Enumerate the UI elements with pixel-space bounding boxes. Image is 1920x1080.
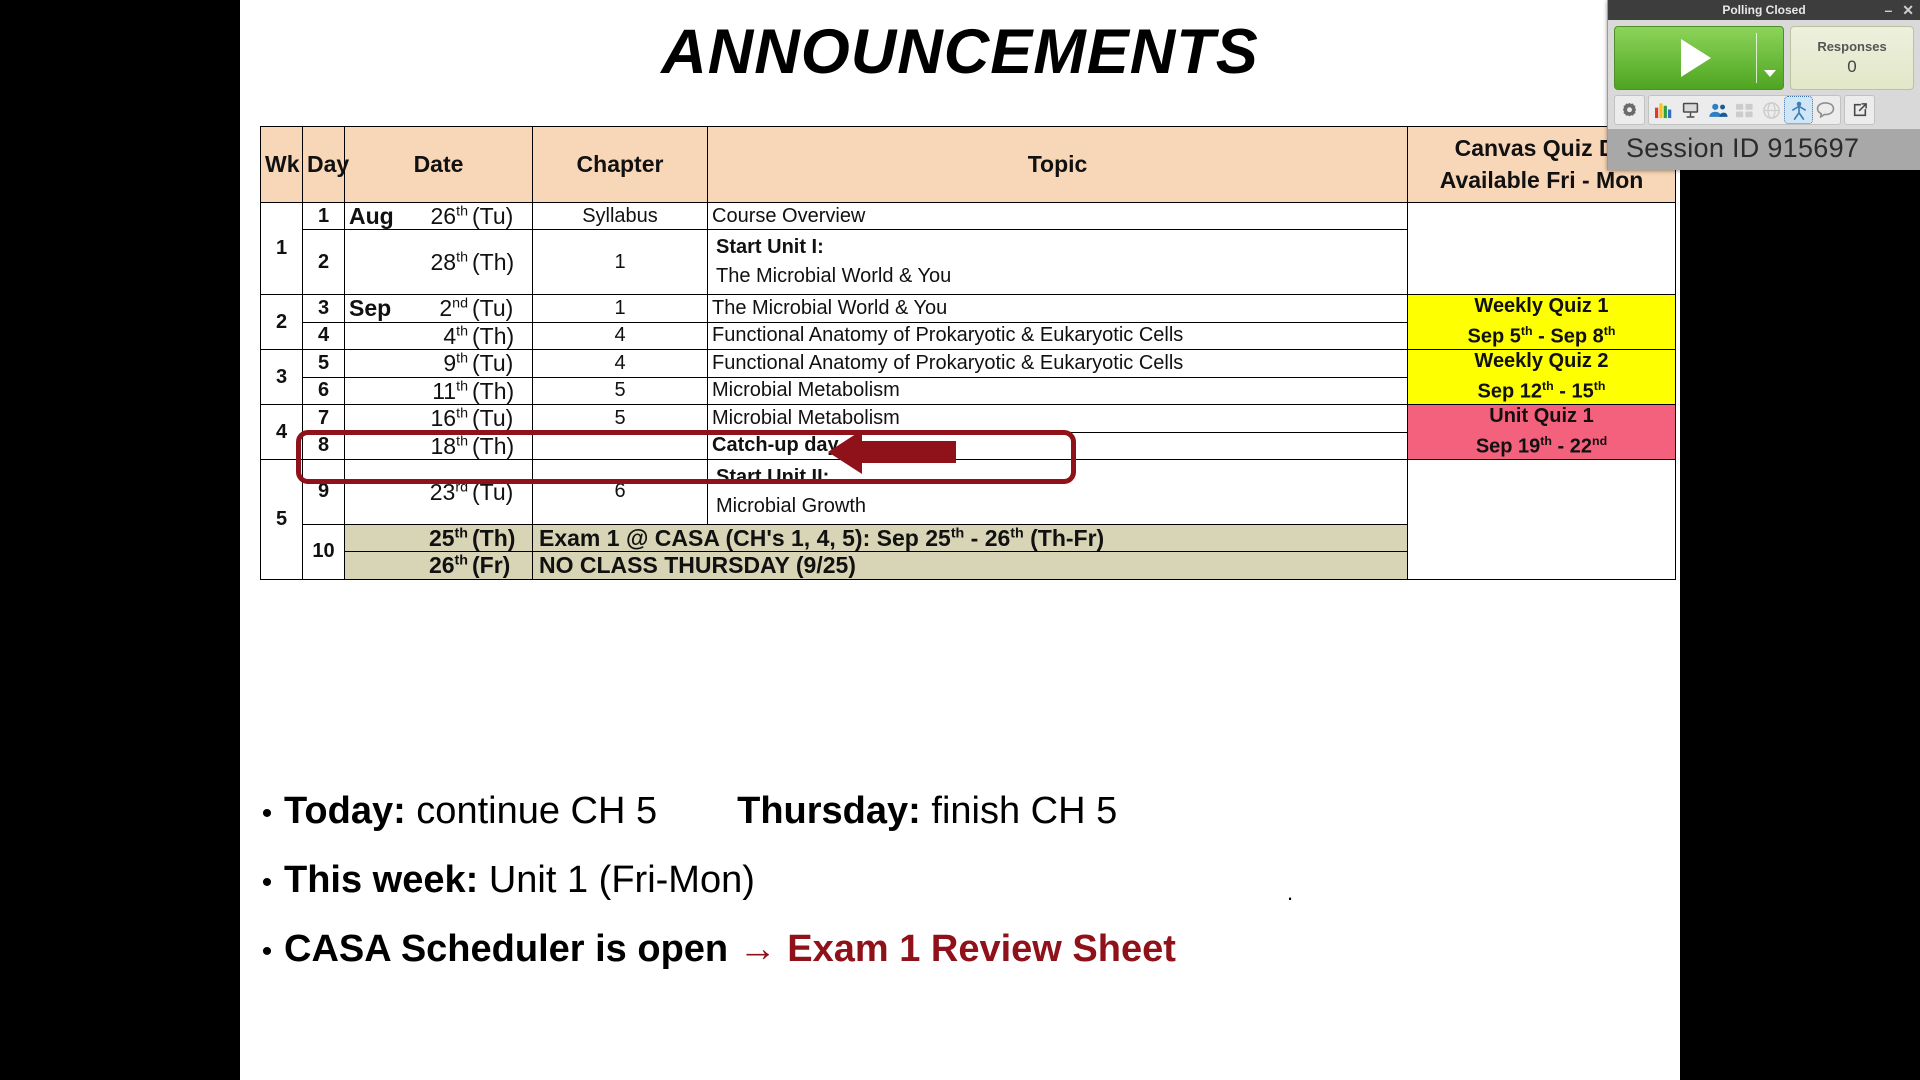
date-number: 26th — [407, 552, 472, 578]
chapter-cell: 5 — [533, 377, 708, 404]
header-date: Date — [345, 127, 533, 203]
table-row: 3 5 9th (Tu) 4 Functional Anatomy of Pro… — [261, 350, 1676, 377]
close-icon[interactable]: ✕ — [1902, 3, 1914, 17]
minimize-icon[interactable]: – — [1884, 3, 1892, 17]
gear-button[interactable] — [1614, 95, 1645, 125]
topic-line-1: Start Unit II: — [716, 466, 1399, 489]
chapter-cell: 6 — [533, 459, 708, 524]
bar-chart-icon[interactable] — [1650, 97, 1677, 123]
date-weekday: (Th) — [472, 249, 528, 275]
date-weekday: (Th) — [472, 433, 528, 459]
table-row: 1 1 Aug 26th (Tu) Syllabus Course Overvi… — [261, 202, 1676, 229]
quiz-cell-empty — [1408, 202, 1676, 294]
date-number: 28th — [407, 249, 472, 275]
list-item: • CASA Scheduler is open → Exam 1 Review… — [250, 928, 1670, 971]
polling-tool-group — [1648, 95, 1841, 125]
chapter-cell: 1 — [533, 295, 708, 322]
quiz-cell-weekly-2: Weekly Quiz 2 Sep 12th - 15th — [1408, 350, 1676, 405]
topic-line-1: Start Unit I: — [716, 236, 1399, 259]
topic-cell: The Microbial World & You — [708, 295, 1408, 322]
header-topic: Topic — [708, 127, 1408, 203]
date-cell: 26th (Fr) — [345, 552, 533, 579]
globe-icon — [1758, 97, 1785, 123]
quiz-title: Weekly Quiz 1 — [1412, 295, 1671, 318]
topic-cell: Functional Anatomy of Prokaryotic & Euka… — [708, 322, 1408, 349]
bullet-text: CASA Scheduler is open → Exam 1 Review S… — [284, 928, 1176, 971]
polling-body: Responses 0 — [1608, 20, 1920, 129]
date-weekday: (Tu) — [472, 203, 528, 229]
day-number: 3 — [303, 295, 345, 322]
popout-button[interactable] — [1844, 95, 1875, 125]
responses-count: 0 — [1847, 57, 1856, 77]
day-number: 7 — [303, 405, 345, 432]
quiz-cell-weekly-1: Weekly Quiz 1 Sep 5th - Sep 8th — [1408, 295, 1676, 350]
topic-cell: Start Unit II: Microbial Growth — [708, 459, 1408, 524]
polling-titlebar: Polling Closed – ✕ — [1608, 0, 1920, 20]
presentation-slide: ANNOUNCEMENTS Wk Day Date Chapter Topic — [240, 0, 1680, 1080]
person-icon[interactable] — [1785, 97, 1812, 123]
table-row: 5 9 23rd (Tu) 6 Start Unit II: — [261, 459, 1676, 524]
date-cell: 28th (Th) — [345, 230, 533, 295]
date-number: 9th — [407, 350, 472, 376]
date-weekday: (Tu) — [472, 350, 528, 376]
date-weekday: (Th) — [472, 525, 528, 551]
date-cell: 16th (Tu) — [345, 405, 533, 432]
topic-cell: Start Unit I: The Microbial World & You — [708, 230, 1408, 295]
header-wk: Wk — [261, 127, 303, 203]
list-item: • This week: Unit 1 (Fri-Mon) — [250, 859, 1670, 902]
date-month: Aug — [349, 203, 407, 229]
table-row: 2 3 Sep 2nd (Tu) 1 The Microbial World &… — [261, 295, 1676, 322]
stray-period: . — [1287, 880, 1293, 906]
date-number: 11th — [407, 378, 472, 404]
header-canvas-quiz-line2: Available Fri - Mon — [1412, 167, 1671, 193]
polling-controls-row: Responses 0 — [1614, 26, 1914, 90]
quiz-cell-empty — [1408, 459, 1676, 579]
quiz-title: Weekly Quiz 2 — [1412, 350, 1671, 373]
header-day: Day — [303, 127, 345, 203]
quiz-title: Unit Quiz 1 — [1412, 405, 1671, 428]
polling-window-title: Polling Closed — [1722, 3, 1805, 17]
day-number: 2 — [303, 230, 345, 295]
quiz-date-range: Sep 19th - 22nd — [1412, 434, 1671, 459]
week-number: 2 — [261, 295, 303, 350]
date-cell: 23rd (Tu) — [345, 459, 533, 524]
date-number: 25th — [407, 525, 472, 551]
list-item: • Today: continue CH 5Thursday: finish C… — [250, 790, 1670, 833]
date-weekday: (Tu) — [472, 405, 528, 431]
header-chapter: Chapter — [533, 127, 708, 203]
day-number: 6 — [303, 377, 345, 404]
date-cell: Aug 26th (Tu) — [345, 202, 533, 229]
chapter-cell: Syllabus — [533, 202, 708, 229]
participants-icon[interactable] — [1704, 97, 1731, 123]
bullet-text: Today: continue CH 5Thursday: finish CH … — [284, 790, 1117, 833]
session-id-label: Session ID 915697 — [1608, 129, 1920, 170]
bullet-icon: • — [250, 937, 284, 967]
day-number: 8 — [303, 432, 345, 459]
date-weekday: (Tu) — [472, 295, 528, 321]
divider — [1756, 33, 1757, 83]
quiz-date-range: Sep 12th - 15th — [1412, 379, 1671, 404]
topic-line-2: Microbial Growth — [716, 495, 1399, 518]
chapter-cell: 1 — [533, 230, 708, 295]
gear-icon[interactable] — [1616, 97, 1643, 123]
date-number: 2nd — [407, 295, 472, 321]
responses-button[interactable]: Responses 0 — [1790, 26, 1914, 90]
quiz-date-range: Sep 5th - Sep 8th — [1412, 324, 1671, 349]
week-number: 4 — [261, 405, 303, 460]
date-cell: 9th (Tu) — [345, 350, 533, 377]
table-row-highlighted: 4 7 16th (Tu) 5 Microbial Metabolism — [261, 405, 1676, 432]
date-number: 16th — [407, 405, 472, 431]
table-header-row: Wk Day Date Chapter Topic Canvas Quiz Da… — [261, 127, 1676, 203]
bullet-icon: • — [250, 868, 284, 898]
no-class-notice: NO CLASS THURSDAY (9/25) — [533, 552, 1408, 579]
polling-widget[interactable]: Polling Closed – ✕ Responses 0 — [1607, 0, 1920, 170]
grid-icon — [1731, 97, 1758, 123]
chapter-cell: 5 — [533, 405, 708, 432]
topic-cell: Course Overview — [708, 202, 1408, 229]
screen: ANNOUNCEMENTS Wk Day Date Chapter Topic — [0, 0, 1920, 1080]
date-cell: Sep 2nd (Tu) — [345, 295, 533, 322]
bullet-text: This week: Unit 1 (Fri-Mon) — [284, 859, 755, 902]
day-number: 5 — [303, 350, 345, 377]
responses-label: Responses — [1817, 39, 1886, 54]
date-weekday: (Tu) — [472, 479, 528, 505]
week-number: 3 — [261, 350, 303, 405]
course-schedule-table-container: Wk Day Date Chapter Topic Canvas Quiz Da… — [260, 126, 1675, 580]
play-icon — [1681, 39, 1711, 77]
date-cell: 18th (Th) — [345, 432, 533, 459]
exam-notice: Exam 1 @ CASA (CH's 1, 4, 5): Sep 25th -… — [533, 524, 1408, 551]
date-number: 18th — [407, 433, 472, 459]
date-cell: 11th (Th) — [345, 377, 533, 404]
date-weekday: (Th) — [472, 323, 528, 349]
quiz-cell-unit-1: Unit Quiz 1 Sep 19th - 22nd — [1408, 405, 1676, 460]
page-title: ANNOUNCEMENTS — [240, 16, 1680, 88]
day-number: 1 — [303, 202, 345, 229]
topic-cell: Catch-up day — [708, 432, 1408, 459]
bullet-icon: • — [250, 799, 284, 829]
week-number: 1 — [261, 202, 303, 294]
presentation-icon[interactable] — [1677, 97, 1704, 123]
arrow-glyph-icon: → — [728, 928, 787, 970]
announcement-bullets: • Today: continue CH 5Thursday: finish C… — [250, 790, 1670, 997]
week-number: 5 — [261, 459, 303, 579]
topic-line-2: The Microbial World & You — [716, 265, 1399, 288]
chapter-cell: 4 — [533, 322, 708, 349]
speech-bubble-icon[interactable] — [1812, 97, 1839, 123]
topic-cell: Functional Anatomy of Prokaryotic & Euka… — [708, 350, 1408, 377]
date-number: 23rd — [407, 479, 472, 505]
day-number: 9 — [303, 459, 345, 524]
chapter-cell — [533, 432, 708, 459]
course-schedule-table: Wk Day Date Chapter Topic Canvas Quiz Da… — [260, 126, 1676, 580]
date-cell: 25th (Th) — [345, 524, 533, 551]
topic-cell: Microbial Metabolism — [708, 377, 1408, 404]
date-month: Sep — [349, 295, 407, 321]
topic-cell: Microbial Metabolism — [708, 405, 1408, 432]
chapter-cell: 4 — [533, 350, 708, 377]
popout-icon[interactable] — [1846, 97, 1873, 123]
polling-toolbar — [1614, 95, 1914, 125]
date-weekday: (Fr) — [472, 552, 528, 578]
chevron-down-icon[interactable] — [1764, 70, 1776, 77]
date-weekday: (Th) — [472, 378, 528, 404]
date-number: 26th — [407, 203, 472, 229]
start-polling-button[interactable] — [1614, 26, 1784, 90]
date-number: 4th — [407, 323, 472, 349]
day-number: 4 — [303, 322, 345, 349]
date-cell: 4th (Th) — [345, 322, 533, 349]
day-number: 10 — [303, 524, 345, 579]
